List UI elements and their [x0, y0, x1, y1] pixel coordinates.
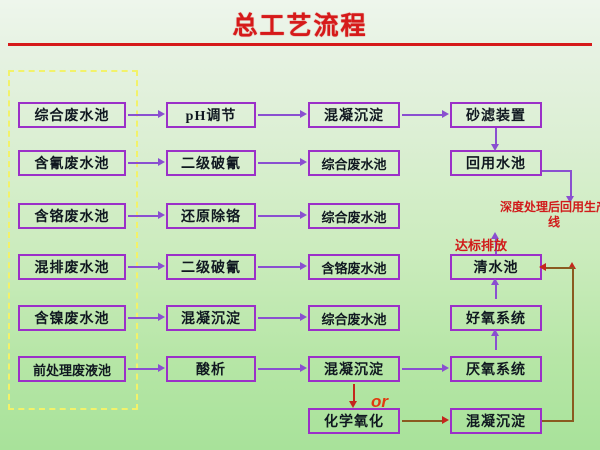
connector-c1r4-c2r4 [128, 266, 158, 268]
box-aerobic-system[interactable]: 好氧系统 [450, 305, 542, 331]
connector-c2r4-c3r4 [258, 266, 300, 268]
box-col2-row1[interactable]: pH调节 [166, 102, 256, 128]
arrowhead-c2r3-c3r3 [300, 211, 307, 219]
arrowhead-c3r6-anaerobic [442, 364, 449, 372]
annotation-standard-discharge: 达标排放 [455, 235, 507, 254]
connector-c3r6-anaerobic [402, 368, 442, 370]
connector-sandfilter-reusepool [495, 128, 497, 144]
connector-chemoxid-finalcoag [402, 420, 442, 422]
box-col1-row4[interactable]: 混排废水池 [18, 254, 126, 280]
arrowhead-coagulation-chemoxid [349, 401, 357, 408]
connector-c2r5-c3r5 [258, 317, 300, 319]
box-col2-row2[interactable]: 二级破氰 [166, 150, 256, 176]
box-col1-row1[interactable]: 综合废水池 [18, 102, 126, 128]
box-col2-row6[interactable]: 酸析 [166, 356, 256, 382]
connector-c2r1-c3r1 [258, 114, 300, 116]
box-col4-row1[interactable]: 砂滤装置 [450, 102, 542, 128]
box-col2-row5[interactable]: 混凝沉淀 [166, 305, 256, 331]
arrowhead-c1r4-c2r4 [158, 262, 165, 270]
arrowhead-anaerobic-aerobic [491, 329, 499, 336]
connector-c2r6-c3r6 [258, 368, 300, 370]
arrowhead-c2r2-c3r2 [300, 158, 307, 166]
connector-c2r3-c3r3 [258, 215, 300, 217]
box-col3-row2[interactable]: 综合废水池 [308, 150, 400, 176]
connector-coagulation-chemoxid [353, 384, 355, 401]
connector-c1r2-c2r2 [128, 162, 158, 164]
arrowhead-c1r5-c2r5 [158, 313, 165, 321]
connector-c1r5-c2r5 [128, 317, 158, 319]
arrowhead-sandfilter-reusepool [491, 144, 499, 151]
box-col2-row4[interactable]: 二级破氰 [166, 254, 256, 280]
connector-c1r3-c2r3 [128, 215, 158, 217]
arrowhead-aerobic-cleanpool [491, 278, 499, 285]
annotation-reuse-line: 深度处理后回用生产线 [500, 200, 600, 230]
arrowhead-chemoxid-finalcoag [442, 416, 449, 424]
annotation-or: or [371, 392, 388, 412]
page-title: 总工艺流程 [0, 6, 600, 42]
arrowhead-c2r6-c3r6 [300, 364, 307, 372]
title-divider [8, 43, 592, 46]
slide-canvas: 总工艺流程 综合废水池 含氰废水池 含铬废水池 混排废水池 含镍废水池 前处理废… [0, 0, 600, 450]
box-col3-row4[interactable]: 含铬废水池 [308, 254, 400, 280]
box-col1-row3[interactable]: 含铬废水池 [18, 203, 126, 229]
connector-c1r6-c2r6 [128, 368, 158, 370]
box-col3-row1[interactable]: 混凝沉淀 [308, 102, 400, 128]
arrowhead-c3r1-c4r1 [442, 110, 449, 118]
connector-anaerobic-aerobic [495, 335, 497, 350]
connector-finalcoag-to-cleanpool [546, 267, 574, 269]
box-clean-water-pool[interactable]: 清水池 [450, 254, 542, 280]
arrowhead-c1r3-c2r3 [158, 211, 165, 219]
box-col1-row6[interactable]: 前处理废液池 [18, 356, 126, 382]
box-col1-row2[interactable]: 含氰废水池 [18, 150, 126, 176]
connector-c2r2-c3r2 [258, 162, 300, 164]
arrowhead-c2r1-c3r1 [300, 110, 307, 118]
box-col4-row7[interactable]: 混凝沉淀 [450, 408, 542, 434]
connector-finalcoag-up [572, 268, 574, 422]
box-col1-row5[interactable]: 含镍废水池 [18, 305, 126, 331]
arrowhead-c1r6-c2r6 [158, 364, 165, 372]
box-col4-row2[interactable]: 回用水池 [450, 150, 542, 176]
box-col3-row3[interactable]: 综合废水池 [308, 203, 400, 229]
arrowhead-c1r1-c2r1 [158, 110, 165, 118]
arrowhead-c2r5-c3r5 [300, 313, 307, 321]
arrowhead-c2r4-c3r4 [300, 262, 307, 270]
connector-aerobic-cleanpool [495, 284, 497, 299]
connector-c3r1-c4r1 [402, 114, 442, 116]
box-anaerobic-system[interactable]: 厌氧系统 [450, 356, 542, 382]
connector-reusepool-right [542, 170, 572, 172]
box-col2-row3[interactable]: 还原除铬 [166, 203, 256, 229]
connector-c1r1-c2r1 [128, 114, 158, 116]
connector-finalcoag-right [542, 420, 574, 422]
connector-reusepool-down [570, 170, 572, 196]
box-col3-row5[interactable]: 综合废水池 [308, 305, 400, 331]
box-col3-row6[interactable]: 混凝沉淀 [308, 356, 400, 382]
arrowhead-c1r2-c2r2 [158, 158, 165, 166]
arrowhead-finalcoag-cleanpool [539, 263, 546, 271]
